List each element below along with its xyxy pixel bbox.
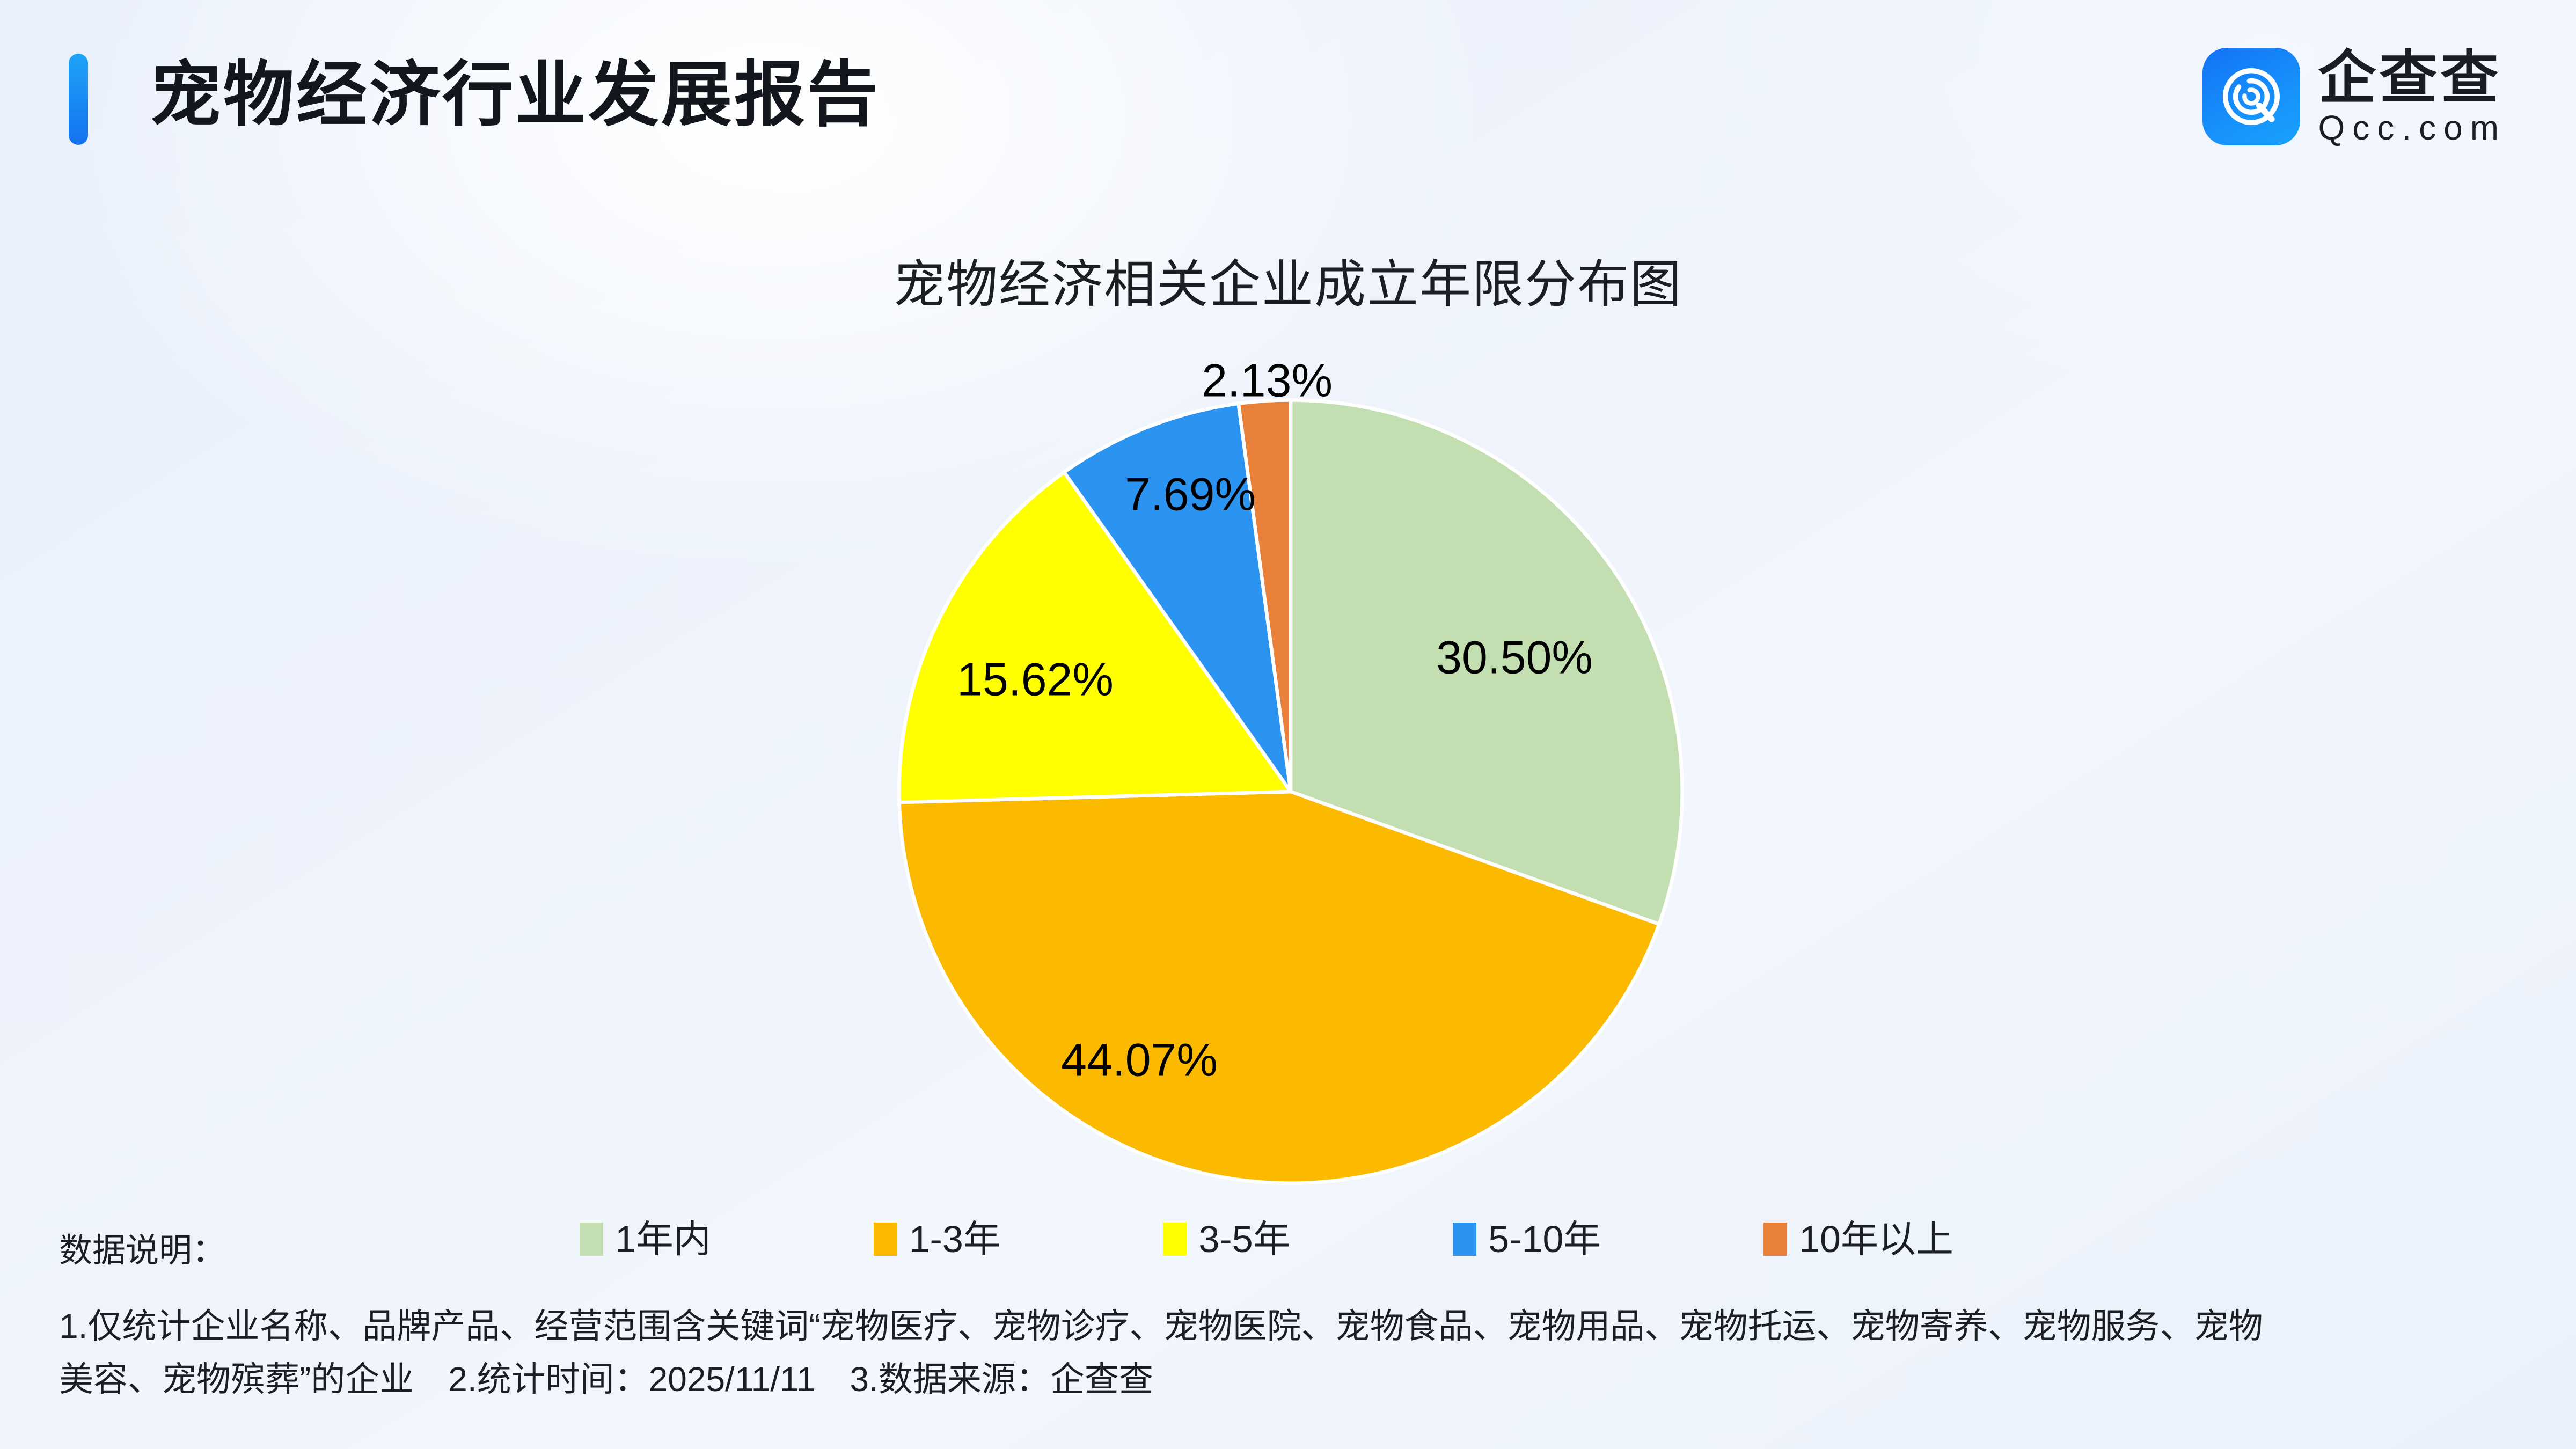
qcc-logo-icon xyxy=(2202,48,2300,145)
pie-slice-label: 7.69% xyxy=(1125,469,1256,522)
brand-name-cn: 企查查 xyxy=(2318,47,2506,108)
chart-title: 宠物经济相关企业成立年限分布图 xyxy=(0,243,2576,317)
title-accent-bar xyxy=(69,54,88,145)
brand-url: Qcc.com xyxy=(2318,110,2506,146)
page-header: 宠物经济行业发展报告 企查查 Qcc.com xyxy=(0,0,2576,220)
brand-logo[interactable]: 企查查 Qcc.com xyxy=(2202,47,2506,147)
footnote-line-2: 美容、宠物殡葬”的企业 2.统计时间：2025/11/11 3.数据来源：企查查 xyxy=(59,1353,2538,1406)
footnote: 数据说明： 1.仅统计企业名称、品牌产品、经营范围含关键词“宠物医疗、宠物诊疗、… xyxy=(59,1234,2538,1406)
pie-chart xyxy=(895,396,1686,1187)
pie-slice-label: 30.50% xyxy=(1436,632,1593,685)
footnote-heading: 数据说明： xyxy=(59,1234,2538,1268)
page-title: 宠物经济行业发展报告 xyxy=(150,47,880,143)
brand-text: 企查查 Qcc.com xyxy=(2318,47,2506,147)
footnote-line-1: 1.仅统计企业名称、品牌产品、经营范围含关键词“宠物医疗、宠物诊疗、宠物医院、宠… xyxy=(59,1300,2538,1353)
pie-slice-label: 2.13% xyxy=(1202,355,1333,408)
pie-slice-label: 15.62% xyxy=(957,654,1114,707)
pie-slice-label: 44.07% xyxy=(1061,1034,1218,1087)
